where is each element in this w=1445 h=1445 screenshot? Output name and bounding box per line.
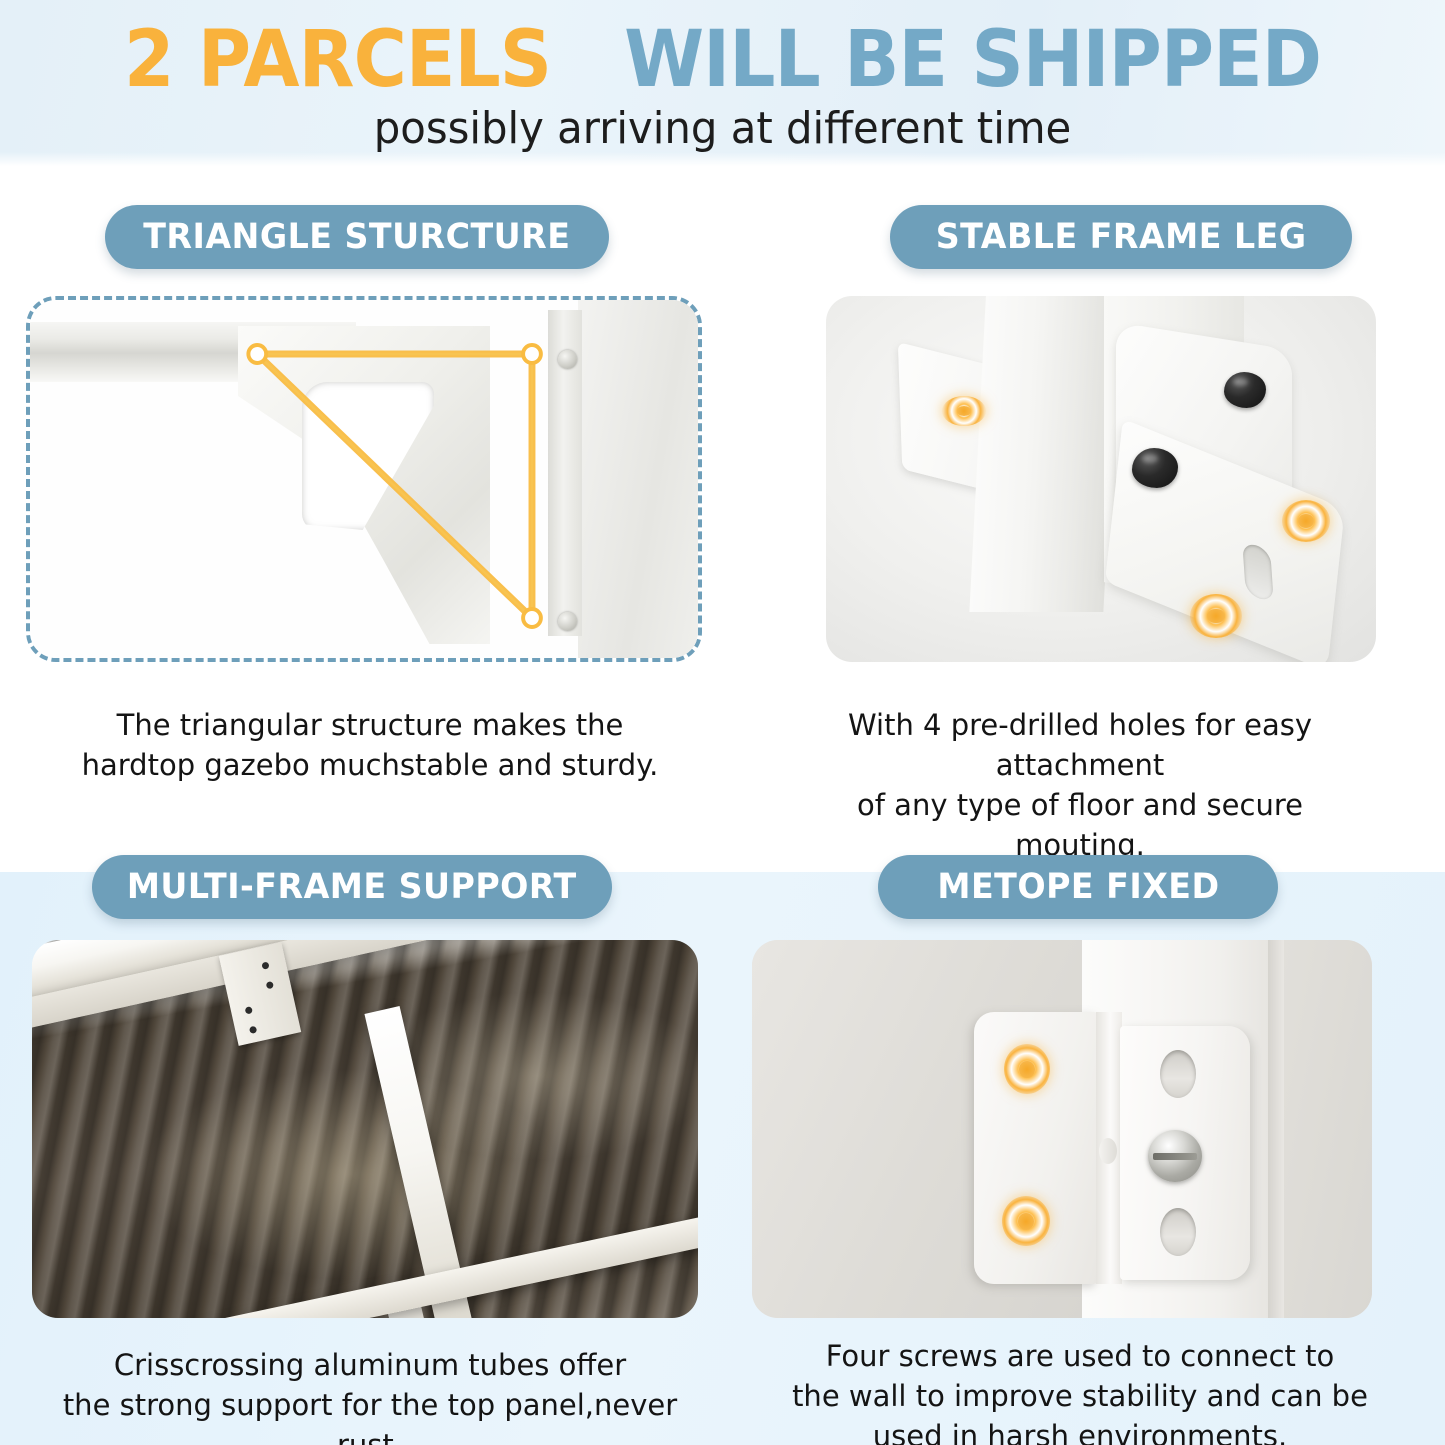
bracket-nub [1099, 1138, 1117, 1164]
hole-highlight-ring-icon [942, 396, 986, 426]
wall-surface-right [1284, 940, 1372, 1318]
rivet-icon [261, 961, 269, 969]
rivet-icon [266, 981, 274, 989]
badge-label: METOPE FIXED [937, 867, 1219, 907]
badge-multi-frame-support: MULTI-FRAME SUPPORT [92, 855, 612, 919]
bolt-head-icon [1224, 372, 1266, 408]
badge-triangle-structure: TRIANGLE STURCTURE [105, 205, 609, 269]
hole-highlight-ring-icon [1002, 1196, 1050, 1246]
caption-multi-frame-support: Crisscrossing aluminum tubes offer the s… [50, 1345, 690, 1445]
photo-metope-fixed [752, 940, 1372, 1318]
photo-triangle-structure [26, 296, 702, 662]
badge-label: MULTI-FRAME SUPPORT [127, 867, 577, 907]
post-edge [1268, 940, 1284, 1318]
caption-triangle-structure: The triangular structure makes the hardt… [60, 705, 680, 785]
badge-label: TRIANGLE STURCTURE [143, 217, 570, 257]
bracket-hole [1160, 1208, 1196, 1256]
photo-multi-frame-support [32, 940, 698, 1318]
page-subtitle: possibly arriving at different time [36, 104, 1409, 154]
bracket-hole [1160, 1050, 1196, 1098]
caption-metope-fixed: Four screws are used to connect to the w… [790, 1336, 1370, 1445]
title-part-rest: WILL BE SHIPPED [624, 15, 1321, 105]
badge-metope-fixed: METOPE FIXED [878, 855, 1278, 919]
rivet-icon [245, 1006, 253, 1014]
screw-head-icon [1148, 1130, 1202, 1182]
frame-post [969, 296, 1120, 612]
infographic-page: 2 PARCELS WILL BE SHIPPED possibly arriv… [0, 0, 1445, 1445]
hole-highlight-ring-icon [1282, 500, 1330, 542]
triangle-overlay-icon [30, 300, 698, 658]
title-part-highlight: 2 PARCELS [124, 15, 551, 105]
page-title: 2 PARCELS WILL BE SHIPPED [51, 18, 1395, 102]
badge-label: STABLE FRAME LEG [936, 217, 1307, 257]
rivet-icon [249, 1026, 257, 1034]
hole-highlight-ring-icon [1004, 1044, 1050, 1094]
bolt-head-icon [1132, 448, 1178, 488]
hole-highlight-ring-icon [1190, 594, 1242, 638]
badge-stable-frame-leg: STABLE FRAME LEG [890, 205, 1352, 269]
photo-stable-frame-leg [826, 296, 1376, 662]
caption-stable-frame-leg: With 4 pre-drilled holes for easy attach… [790, 705, 1370, 865]
